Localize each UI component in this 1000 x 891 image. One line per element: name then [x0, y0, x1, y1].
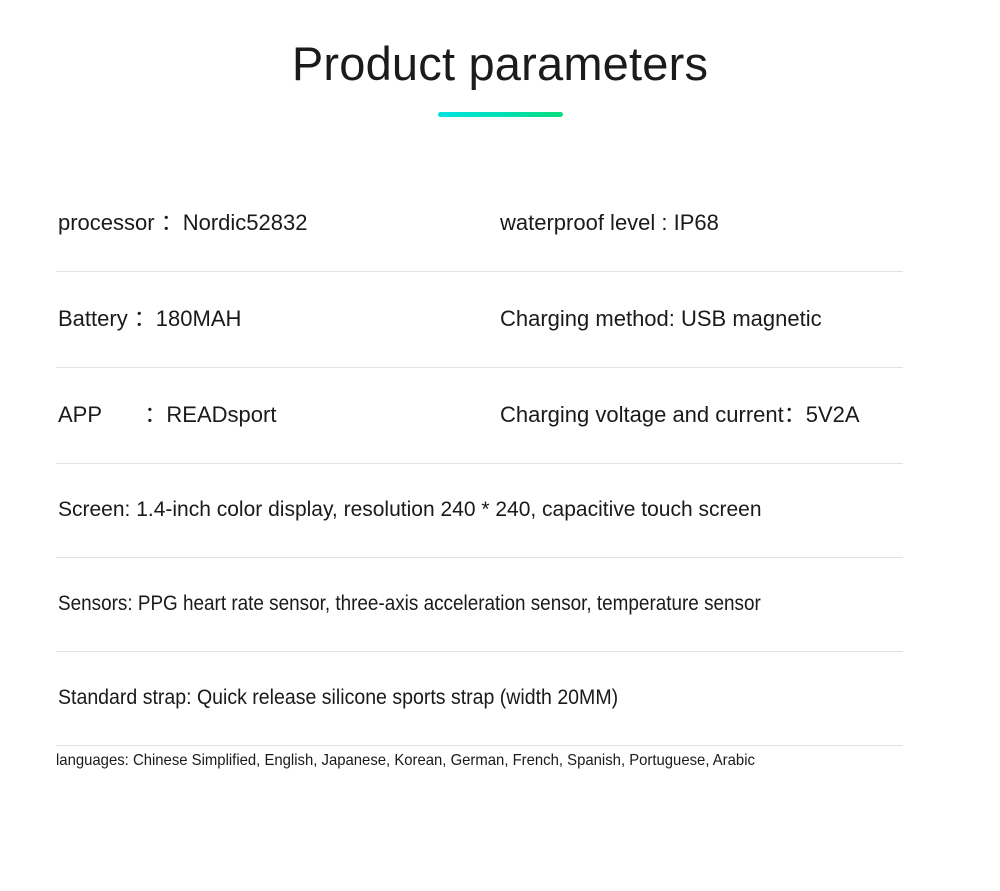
spec-row-standard-strap: Standard strap: Quick release silicone s… — [56, 652, 904, 746]
spec-cell-charging-method: Charging method: USB magnetic — [500, 305, 822, 333]
spec-cell-waterproof-level: waterproof level : IP68 — [500, 209, 719, 237]
spec-cell-screen: Screen: 1.4-inch color display, resoluti… — [58, 496, 762, 523]
product-parameters-sheet: Product parameters processor ：Nordic5283… — [0, 0, 1000, 891]
spec-cell-charging-voltage: Charging voltage and current：5V2A — [500, 401, 860, 429]
accent-underline-bar — [438, 112, 563, 117]
spec-cell-standard-strap: Standard strap: Quick release silicone s… — [58, 684, 618, 711]
spec-row-sensors: Sensors: PPG heart rate sensor, three-ax… — [56, 558, 904, 652]
spec-row-app: APP ：READsport Charging voltage and curr… — [56, 368, 904, 464]
spec-cell-sensors: Sensors: PPG heart rate sensor, three-ax… — [58, 590, 761, 617]
spec-cell-processor: processor ：Nordic52832 — [58, 209, 307, 237]
spec-row-battery: Battery ：180MAH Charging method: USB mag… — [56, 272, 904, 368]
spec-cell-languages: languages: Chinese Simplified, English, … — [56, 746, 912, 776]
page-title: Product parameters — [0, 0, 1000, 90]
page-header: Product parameters — [0, 0, 1000, 117]
spec-cell-battery: Battery ：180MAH — [58, 305, 241, 333]
accent-bar-container — [0, 112, 1000, 117]
spec-cell-app: APP ：READsport — [58, 401, 276, 429]
spec-row-languages: languages: Chinese Simplified, English, … — [56, 746, 904, 866]
spec-table: processor ：Nordic52832 waterproof level … — [56, 176, 904, 866]
spec-row-screen: Screen: 1.4-inch color display, resoluti… — [56, 464, 904, 558]
spec-row-processor: processor ：Nordic52832 waterproof level … — [56, 176, 904, 272]
